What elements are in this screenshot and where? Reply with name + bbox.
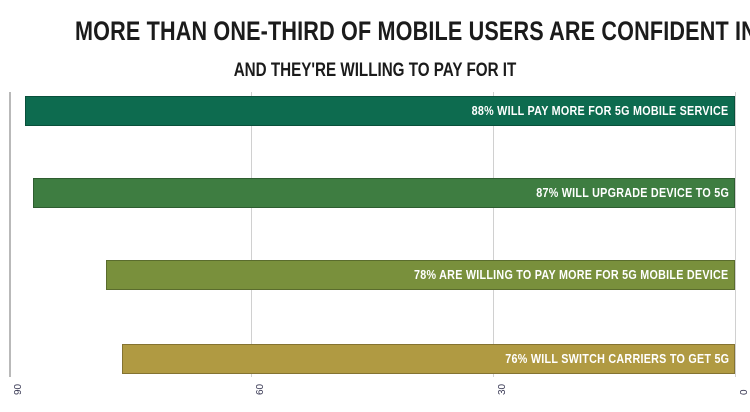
x-tick-0: 0 bbox=[739, 389, 750, 395]
bar[interactable]: 88% WILL PAY MORE FOR 5G MOBILE SERVICE bbox=[25, 96, 735, 126]
bar-data-label: 76% WILL SWITCH CARRIERS TO GET 5G bbox=[505, 352, 734, 366]
x-tick-60: 60 bbox=[255, 384, 266, 395]
bar-data-label: 87% WILL UPGRADE DEVICE TO 5G bbox=[536, 186, 734, 200]
bar-data-label: 78% ARE WILLING TO PAY MORE FOR 5G MOBIL… bbox=[414, 268, 734, 282]
x-axis-tick-labels: 9060300 bbox=[0, 377, 750, 412]
bar-row: 87% WILL UPGRADE DEVICE TO 5G bbox=[0, 178, 750, 208]
page-subtitle: AND THEY'RE WILLING TO PAY FOR IT bbox=[75, 61, 675, 80]
plot-area: 88% WILL PAY MORE FOR 5G MOBILE SERVICE8… bbox=[0, 92, 750, 377]
x-tick-30: 30 bbox=[497, 384, 508, 395]
bar[interactable]: 76% WILL SWITCH CARRIERS TO GET 5G bbox=[122, 344, 735, 374]
bar-data-label: 88% WILL PAY MORE FOR 5G MOBILE SERVICE bbox=[472, 104, 734, 118]
x-tick-90: 90 bbox=[13, 384, 24, 395]
bar-row: 88% WILL PAY MORE FOR 5G MOBILE SERVICE bbox=[0, 96, 750, 126]
chart-container: MORE THAN ONE-THIRD OF MOBILE USERS ARE … bbox=[0, 0, 750, 412]
bar-row: 78% ARE WILLING TO PAY MORE FOR 5G MOBIL… bbox=[0, 260, 750, 290]
bar[interactable]: 78% ARE WILLING TO PAY MORE FOR 5G MOBIL… bbox=[106, 260, 735, 290]
bar-series: 88% WILL PAY MORE FOR 5G MOBILE SERVICE8… bbox=[0, 92, 750, 377]
page-title: MORE THAN ONE-THIRD OF MOBILE USERS ARE … bbox=[75, 18, 675, 45]
bar-row: 76% WILL SWITCH CARRIERS TO GET 5G bbox=[0, 344, 750, 374]
title-block: MORE THAN ONE-THIRD OF MOBILE USERS ARE … bbox=[0, 0, 750, 80]
bar[interactable]: 87% WILL UPGRADE DEVICE TO 5G bbox=[33, 178, 735, 208]
